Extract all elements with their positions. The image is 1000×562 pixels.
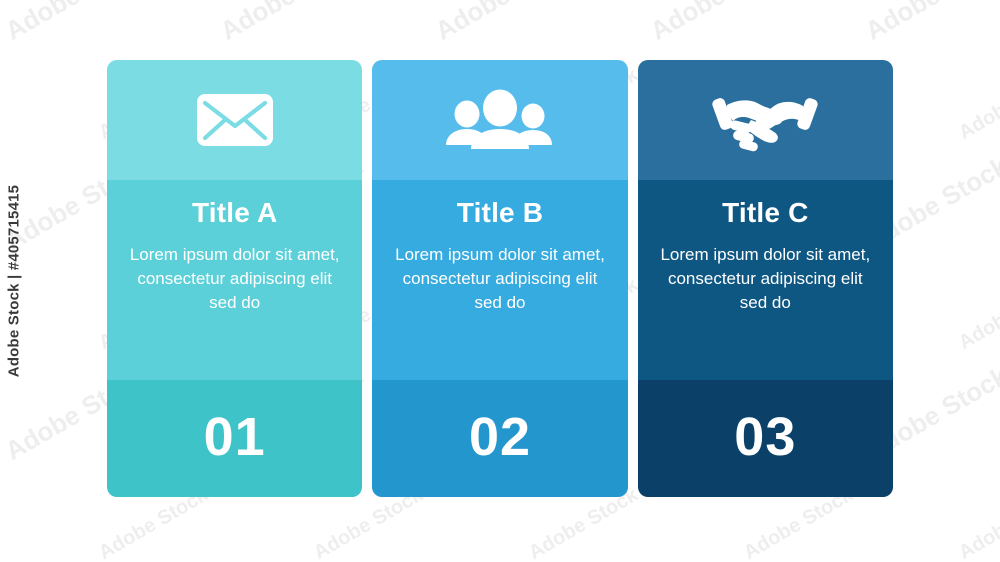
card-c[interactable]: Title C Lorem ipsum dolor sit amet, cons… [638, 60, 893, 497]
card-c-title: Title C [722, 198, 808, 229]
card-b-icon-band [372, 60, 627, 180]
card-c-body-band: Title C Lorem ipsum dolor sit amet, cons… [638, 180, 893, 380]
watermark-side-label: Adobe Stock | #405715415 [6, 185, 23, 377]
card-b-number: 02 [469, 410, 531, 464]
card-a-number-band: 01 [107, 380, 362, 497]
envelope-icon [187, 88, 283, 152]
infographic-canvas: Adobe StockAdobe StockAdobe StockAdobe S… [0, 0, 1000, 562]
watermark-text: Adobe Stock [430, 0, 583, 47]
card-b[interactable]: Title B Lorem ipsum dolor sit amet, cons… [372, 60, 627, 497]
card-a-number: 01 [204, 410, 266, 464]
people-group-icon [452, 88, 548, 152]
watermark-text: Adobe Stock [645, 0, 798, 47]
watermark-text: Adobe Stock [860, 0, 1000, 47]
card-a-title: Title A [192, 198, 277, 229]
card-a[interactable]: Title A Lorem ipsum dolor sit amet, cons… [107, 60, 362, 497]
card-c-icon-band [638, 60, 893, 180]
watermark-text: Adobe Stock [955, 484, 1000, 562]
watermark-text: Adobe Stock [0, 0, 153, 47]
card-b-description: Lorem ipsum dolor sit amet, consectetur … [392, 243, 607, 315]
watermark-text: Adobe Stock [955, 274, 1000, 355]
card-b-number-band: 02 [372, 380, 627, 497]
handshake-icon [717, 88, 813, 152]
card-a-description: Lorem ipsum dolor sit amet, consectetur … [127, 243, 342, 315]
card-a-body-band: Title A Lorem ipsum dolor sit amet, cons… [107, 180, 362, 380]
card-c-description: Lorem ipsum dolor sit amet, consectetur … [658, 243, 873, 315]
cards-row: Title A Lorem ipsum dolor sit amet, cons… [107, 60, 893, 497]
card-a-icon-band [107, 60, 362, 180]
card-b-body-band: Title B Lorem ipsum dolor sit amet, cons… [372, 180, 627, 380]
watermark-text: Adobe Stock [215, 0, 368, 47]
watermark-text: Adobe Stock [955, 64, 1000, 145]
card-c-number-band: 03 [638, 380, 893, 497]
card-b-title: Title B [457, 198, 543, 229]
card-c-number: 03 [734, 410, 796, 464]
